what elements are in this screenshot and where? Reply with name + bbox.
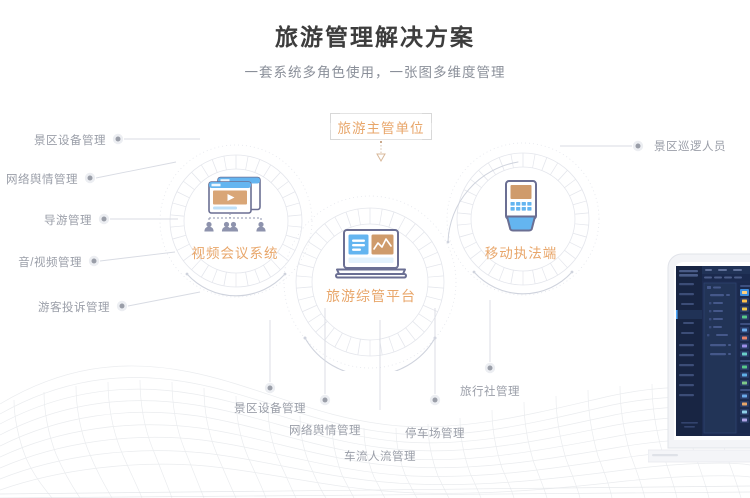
box-edge-top [340,113,422,114]
spoke-bottom-1: 景区设备管理 [224,400,316,416]
spoke-bottom-3: 车流人流管理 [334,448,426,464]
spoke-bottom-4: 停车场管理 [389,425,481,441]
product-screenshot-laptop [648,252,750,498]
spoke-bottom-2: 网络舆情管理 [279,422,371,438]
spoke-left-2: 网络舆情管理 [0,171,78,187]
header-block: 旅游管理解决方案 一套系统多角色使用，一张图多维度管理 [0,22,750,82]
box-edge-bottom [340,139,422,140]
mobile-device-icon [500,178,542,236]
gov-authority-label: 旅游主管单位 [338,117,425,137]
spoke-left-1: 景区设备管理 [10,132,106,148]
page-subtitle: 一套系统多角色使用，一张图多维度管理 [0,64,750,82]
spoke-left-5: 游客投诉管理 [18,299,110,315]
solution-diagram-canvas: 旅游管理解决方案 一套系统多角色使用，一张图多维度管理 旅游主管单位 [0,0,750,498]
spoke-bottom-5: 旅行社管理 [444,383,536,399]
box-edge-right [431,123,432,130]
spoke-right-1: 景区巡逻人员 [654,138,746,154]
box-edge-left [330,123,331,130]
page-title: 旅游管理解决方案 [0,22,750,52]
spoke-left-4: 音/视频管理 [0,254,82,270]
spoke-left-3: 导游管理 [10,212,92,228]
right-spoke-connectors [540,130,660,170]
laptop-dashboard-icon [332,228,410,286]
gov-authority-box[interactable]: 旅游主管单位 [330,113,432,140]
arrow-down-icon [374,141,388,163]
node-label-mobile-enforcement: 移动执法端 [460,242,582,262]
